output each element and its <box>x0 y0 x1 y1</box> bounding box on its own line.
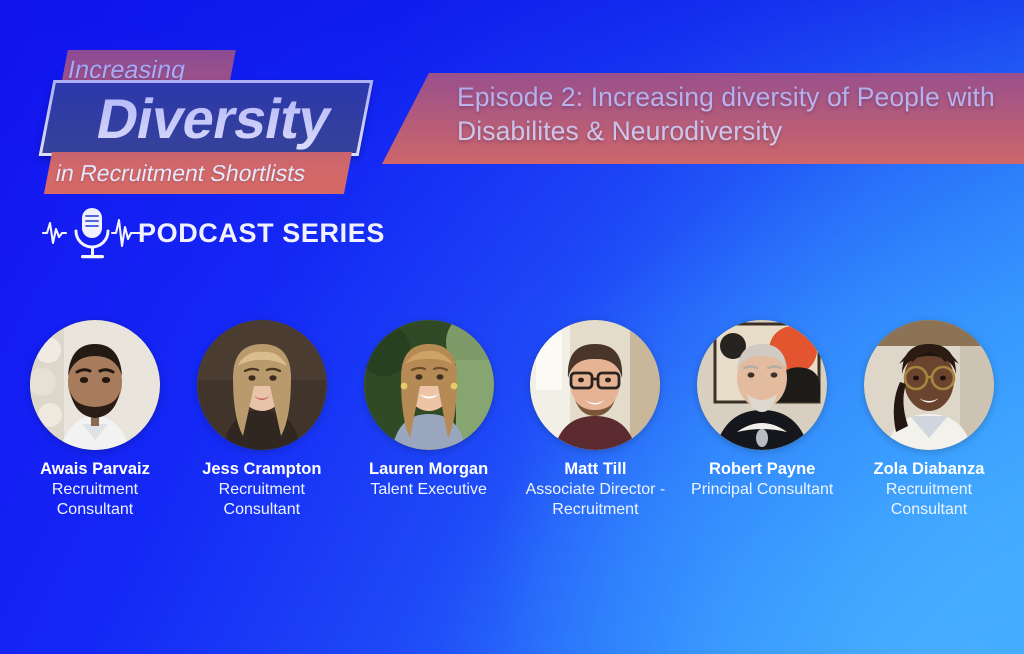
brand-line-diversity: Diversity <box>46 78 382 158</box>
episode-title: Episode 2: Increasing diversity of Peopl… <box>457 80 1017 160</box>
headshot-awais-parvaiz <box>30 320 160 450</box>
speaker-name: Awais Parvaiz <box>40 460 150 479</box>
speaker-card: Awais Parvaiz Recruitment Consultant <box>16 320 174 550</box>
brand-line-shortlists: in Recruitment Shortlists <box>53 156 360 192</box>
speaker-card: Jess Crampton Recruitment Consultant <box>183 320 341 550</box>
podcast-brand-lockup: Increasing Diversity in Recruitment Shor… <box>38 44 398 249</box>
speaker-role: Talent Executive <box>370 480 487 500</box>
headshot-lauren-morgan <box>364 320 494 450</box>
speaker-card: Lauren Morgan Talent Executive <box>350 320 508 550</box>
podcast-cover-slide: Increasing Diversity in Recruitment Shor… <box>0 0 1024 654</box>
speaker-name: Lauren Morgan <box>369 460 488 479</box>
podcast-series-label: PODCAST SERIES <box>138 218 385 249</box>
speaker-card: Zola Diabanza Recruitment Consultant <box>850 320 1008 550</box>
speaker-list: Awais Parvaiz Recruitment Consultant <box>0 320 1024 550</box>
headshot-zola-diabanza <box>864 320 994 450</box>
microphone-waveform-icon <box>42 205 142 261</box>
speaker-name: Jess Crampton <box>202 460 321 479</box>
speaker-name: Matt Till <box>564 460 626 479</box>
speaker-role: Principal Consultant <box>691 480 833 500</box>
speaker-card: Matt Till Associate Director - Recruitme… <box>516 320 674 550</box>
speaker-role: Associate Director - Recruitment <box>516 480 674 520</box>
headshot-matt-till <box>530 320 660 450</box>
speaker-card: Robert Payne Principal Consultant <box>683 320 841 550</box>
podcast-series-row: PODCAST SERIES <box>42 204 392 262</box>
speaker-name: Robert Payne <box>709 460 815 479</box>
speaker-role: Recruitment Consultant <box>16 480 174 520</box>
speaker-name: Zola Diabanza <box>874 460 985 479</box>
speaker-role: Recruitment Consultant <box>183 480 341 520</box>
headshot-jess-crampton <box>197 320 327 450</box>
headshot-robert-payne <box>697 320 827 450</box>
speaker-role: Recruitment Consultant <box>850 480 1008 520</box>
